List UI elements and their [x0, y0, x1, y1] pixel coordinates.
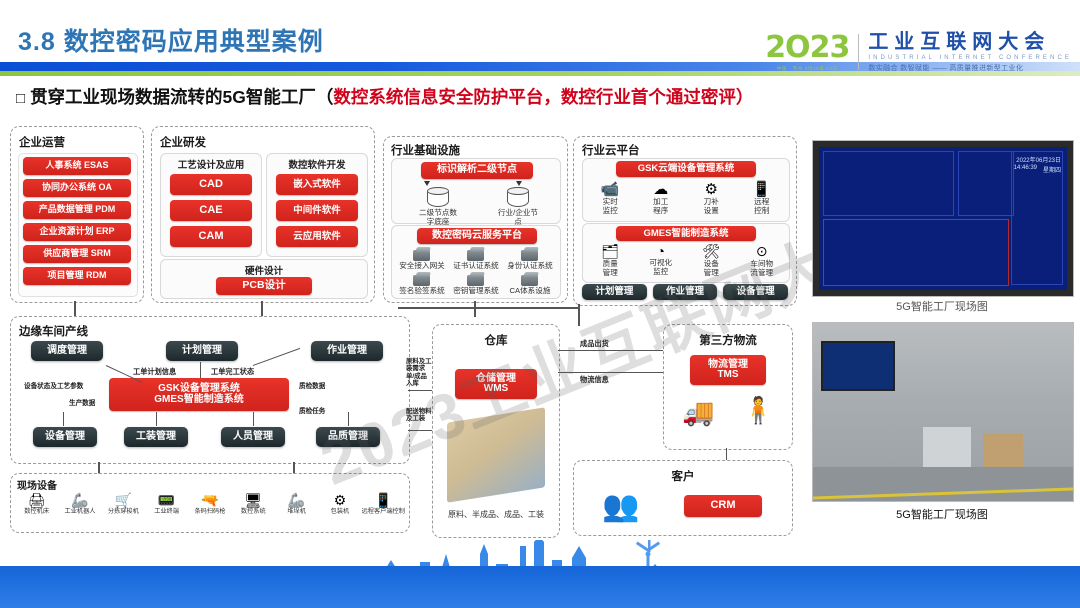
- dashboard-date: 2022年06月23日: [1016, 155, 1061, 164]
- sorting-shuttle-icon: 🛒: [102, 492, 145, 509]
- edge-center-line-0: GSK设备管理系统: [158, 384, 240, 395]
- warehouse-footer: 原料、半成品、成品、工装: [433, 511, 559, 520]
- logo-name-cn: 工业互联网大会: [868, 32, 1072, 53]
- subtitle-main: 贯穿工业现场数据流转的5G智能工厂: [30, 87, 316, 107]
- connector-vertical: [74, 301, 76, 317]
- server-icon: [466, 272, 486, 287]
- cloud-gmes-item-2: 设备管理: [686, 260, 737, 277]
- infra-crypto-item-2: 身份认证系统: [503, 262, 557, 271]
- cloud-gsk-item-0: 实时监控: [585, 198, 636, 215]
- rd-group-process: 工艺设计及应用 CAD CAE CAM: [160, 153, 262, 257]
- infra-node-banner[interactable]: 标识解析二级节点: [421, 162, 533, 179]
- field-device-label-2: 分拣穿梭机: [102, 509, 145, 516]
- rd-process-item-2[interactable]: CAM: [170, 226, 252, 247]
- rd-hardware-item-0[interactable]: PCB设计: [216, 277, 312, 295]
- connector-horizontal: [558, 372, 663, 373]
- subtitle-highlight: 数控系统信息安全防护平台，数控行业首个通过密评: [333, 87, 736, 107]
- infra-node-group: 标识解析二级节点 二级节点数字底座 行业/企业节点: [391, 158, 561, 224]
- connector-vertical: [578, 304, 580, 326]
- stacker-crane-icon: 🦾: [275, 492, 318, 509]
- infra-crypto-item-1: 证书认证系统: [449, 262, 503, 271]
- edge-top-box-2[interactable]: 作业管理: [311, 341, 383, 361]
- remote-client-icon: 📱: [362, 492, 405, 509]
- edge-top-box-1[interactable]: 计划管理: [166, 341, 238, 361]
- cnc-system-icon: 🖥: [232, 492, 275, 509]
- connector-vertical: [253, 412, 254, 426]
- rd-software-item-2[interactable]: 云应用软件: [276, 226, 358, 247]
- logo-divider: [858, 34, 859, 70]
- connector-vertical: [726, 448, 727, 460]
- subtitle-paren-open: （: [316, 87, 334, 107]
- server-icon: [412, 247, 432, 262]
- server-icon: [466, 247, 486, 262]
- warehouse-wms-button[interactable]: 仓储管理 WMS: [455, 369, 537, 399]
- infra-crypto-item-4: 密钥管理系统: [449, 287, 503, 296]
- connector-vertical: [348, 412, 349, 426]
- remote-icon: 📱: [737, 180, 788, 198]
- field-device-label-1: 工业机器人: [58, 509, 101, 516]
- rd-process-item-0[interactable]: CAD: [170, 174, 252, 195]
- flow-label-0: 成品出货: [580, 339, 609, 349]
- ops-item-3[interactable]: 企业资源计划 ERP: [23, 223, 131, 241]
- connector-vertical: [261, 301, 263, 317]
- logo-year: 2O23: [765, 33, 849, 63]
- dashboard-weekday: 星期四: [1043, 165, 1061, 174]
- page-title: 3.8 数控密码应用典型案例: [18, 22, 324, 58]
- infra-crypto-item-3: 签名验签系统: [395, 287, 449, 296]
- edge-center-system[interactable]: GSK设备管理系统 GMES智能制造系统: [109, 378, 289, 411]
- gauge-icon: ◔: [636, 243, 687, 259]
- edge-label-5: 质检任务: [299, 405, 325, 415]
- infra-crypto-banner[interactable]: 数控密码云服务平台: [417, 228, 537, 244]
- edge-top-box-0[interactable]: 调度管理: [31, 341, 103, 361]
- cloud-gsk-item-1: 加工程序: [636, 198, 687, 215]
- server-icon: [520, 247, 540, 262]
- edge-label-2: 设备状态及工艺参数: [24, 380, 83, 390]
- robot-arm-icon: 🦾: [58, 492, 101, 509]
- flow-label-3: 配送物料及工装: [406, 408, 432, 423]
- logo-slogan: 数实融合 数智赋能 —— 高质量推进新型工业化: [868, 63, 1072, 73]
- connector-horizontal: [398, 307, 578, 309]
- cloud-gmes-banner[interactable]: GMES智能制造系统: [616, 226, 756, 241]
- panel-enterprise-rd-title: 企业研发: [160, 134, 206, 150]
- cloud-gmes-item-3: 车间物流管理: [737, 260, 788, 277]
- camera-icon: 📹: [585, 180, 636, 198]
- cloud-gmes-group: GMES智能制造系统 🗂质量管理 ◔可视化监控 🛠设备管理 ⊙车间物流管理: [582, 223, 790, 283]
- subtitle-paren-close: ）: [736, 87, 754, 107]
- panel-industry-cloud: 行业云平台 GSK云端设备管理系统 📹实时监控 ☁加工程序 ⚙刀补设置 📱远程控…: [573, 136, 797, 306]
- delivery-person-icon: 🧍: [742, 395, 774, 426]
- ops-item-0[interactable]: 人事系统 ESAS: [23, 157, 131, 175]
- connector-vertical: [474, 301, 476, 317]
- logistics-tms-line-1: TMS: [717, 370, 738, 381]
- subtitle-bullet: □: [16, 90, 25, 107]
- connector-vertical: [156, 412, 157, 426]
- infra-crypto-item-0: 安全接入网关: [395, 262, 449, 271]
- field-device-label-4: 条码扫码枪: [188, 509, 231, 516]
- cloud-footer-btn-0[interactable]: 计划管理: [582, 284, 647, 300]
- industrial-terminal-icon: 📟: [145, 492, 188, 509]
- field-device-label-0: 数控机床: [15, 509, 58, 516]
- photo-caption-factory: 5G智能工厂现场图: [812, 506, 1072, 522]
- panel-enterprise-rd: 企业研发 工艺设计及应用 CAD CAE CAM 数控软件开发 嵌入式软件 中间…: [151, 126, 375, 303]
- photo-caption-dashboard: 5G智能工厂现场图: [812, 298, 1072, 314]
- panel-customer: 客户 👥 CRM: [573, 460, 793, 536]
- cloud-gsk-banner[interactable]: GSK云端设备管理系统: [616, 161, 756, 177]
- cloud-gmes-item-1: 可视化监控: [636, 259, 687, 276]
- rd-software-item-1[interactable]: 中间件软件: [276, 200, 358, 221]
- edge-label-0: 工单计划信息: [133, 367, 176, 377]
- infra-node-label-0: 二级节点数字底座: [416, 209, 460, 226]
- subtitle: □贯穿工业现场数据流转的5G智能工厂（数控系统信息安全防护平台，数控行业首个通过…: [16, 84, 753, 109]
- edge-bottom-box-0[interactable]: 设备管理: [33, 427, 97, 447]
- panel-third-party-logistics: 第三方物流 物流管理 TMS 🚚 🧍: [663, 324, 793, 450]
- footer-sea-band: [0, 566, 1080, 608]
- field-device-label-8: 远程客户端控制: [362, 509, 405, 516]
- edge-center-line-1: GMES智能制造系统: [154, 395, 243, 406]
- logo-name-en: INDUSTRIAL INTERNET CONFERENCE: [868, 55, 1072, 61]
- cloud-gsk-item-3: 远程控制: [737, 198, 788, 215]
- tool-offset-icon: ⚙: [686, 180, 737, 198]
- infra-node-label-1: 行业/企业节点: [496, 209, 540, 226]
- quality-icon: 🗂: [585, 243, 636, 260]
- logo-year-sub: 中国 · 苏州 8月18日-19日: [765, 66, 849, 72]
- architecture-diagram: 企业运营 人事系统 ESAS 协同办公系统 OA 产品数据管理 PDM 企业资源…: [8, 120, 803, 540]
- cloud-footer-btn-1[interactable]: 作业管理: [653, 284, 718, 300]
- field-device-label-3: 工业终端: [145, 509, 188, 516]
- rd-group-hardware: 硬件设计 PCB设计: [160, 259, 368, 299]
- panel-enterprise-ops-title: 企业运营: [19, 134, 65, 150]
- footer-skyline: [0, 540, 1080, 608]
- rd-group-process-title: 工艺设计及应用: [161, 157, 261, 171]
- panel-edge-line: 边缘车间产线 调度管理 计划管理 作业管理 GSK设备管理系统 GMES智能制造…: [10, 316, 410, 464]
- panel-warehouse-title: 仓库: [433, 332, 559, 348]
- field-device-label-6: 堆垛机: [275, 509, 318, 516]
- panel-edge-line-title: 边缘车间产线: [19, 323, 88, 339]
- connector-vertical: [63, 412, 64, 426]
- connector-horizontal: [408, 390, 432, 391]
- panel-field-devices: 现场设备 🖨数控机床 🦾工业机器人 🛒分拣穿梭机 📟工业终端 🔫条码扫码枪 🖥数…: [10, 473, 410, 533]
- photo-factory-floor: [812, 322, 1074, 502]
- database-icon: [427, 187, 449, 207]
- cloud-icon: ☁: [636, 180, 687, 198]
- ops-item-4[interactable]: 供应商管理 SRM: [23, 245, 131, 263]
- edge-bottom-box-2[interactable]: 人员管理: [221, 427, 285, 447]
- ops-item-2[interactable]: 产品数据管理 PDM: [23, 201, 131, 219]
- flow-label-1: 物流信息: [580, 375, 609, 385]
- server-icon: [520, 272, 540, 287]
- panel-enterprise-ops: 企业运营 人事系统 ESAS 协同办公系统 OA 产品数据管理 PDM 企业资源…: [10, 126, 144, 303]
- warehouse-illustration: [447, 407, 545, 503]
- panel-logistics-title: 第三方物流: [664, 332, 792, 348]
- barcode-scanner-icon: 🔫: [188, 492, 231, 509]
- logistics-tms-button[interactable]: 物流管理 TMS: [690, 355, 766, 385]
- cloud-gmes-item-0: 质量管理: [585, 260, 636, 277]
- logistics-icon: ⊙: [737, 243, 788, 260]
- dashboard-time: 14:46:39: [1014, 165, 1037, 171]
- rd-group-software: 数控软件开发 嵌入式软件 中间件软件 云应用软件: [266, 153, 368, 257]
- customer-illustration: 👥: [602, 489, 639, 524]
- cloud-gsk-group: GSK云端设备管理系统 📹实时监控 ☁加工程序 ⚙刀补设置 📱远程控制: [582, 158, 790, 222]
- conference-logo: 2O23 中国 · 苏州 8月18日-19日 工业互联网大会 INDUSTRIA…: [765, 28, 1072, 76]
- rd-software-item-0[interactable]: 嵌入式软件: [276, 174, 358, 195]
- edge-bottom-box-3[interactable]: 品质管理: [316, 427, 380, 447]
- field-device-label-5: 数控系统: [232, 509, 275, 516]
- panel-customer-title: 客户: [574, 468, 792, 484]
- panel-industry-infra: 行业基础设施 标识解析二级节点 二级节点数字底座 行业/企业节点 数控密码云服务…: [383, 136, 568, 303]
- connector-vertical: [200, 362, 201, 378]
- cloud-footer-btn-2[interactable]: 设备管理: [723, 284, 788, 300]
- panel-industry-infra-title: 行业基础设施: [391, 142, 460, 158]
- panel-warehouse: 仓库 仓储管理 WMS 原料、半成品、成品、工装: [432, 324, 560, 538]
- rd-group-hardware-title: 硬件设计: [161, 263, 367, 277]
- flow-label-2: 原料及工装需求单/成品入库: [406, 358, 432, 387]
- connector-diagonal: [253, 348, 300, 366]
- cnc-machine-icon: 🖨: [15, 492, 58, 509]
- rd-group-software-title: 数控软件开发: [267, 157, 367, 171]
- warehouse-wms-line-1: WMS: [484, 384, 508, 395]
- database-icon: [507, 187, 529, 207]
- infra-crypto-item-5: CA体系设施: [503, 287, 557, 296]
- edge-label-3: 生产数据: [69, 397, 95, 407]
- panel-industry-cloud-title: 行业云平台: [582, 142, 640, 158]
- field-device-label-7: 包装机: [318, 509, 361, 516]
- ops-item-1[interactable]: 协同办公系统 OA: [23, 179, 131, 197]
- customer-crm-button[interactable]: CRM: [684, 495, 762, 517]
- edge-bottom-box-1[interactable]: 工装管理: [124, 427, 188, 447]
- photo-dashboard: 2022年06月23日 14:46:39 星期四: [812, 140, 1074, 297]
- infra-crypto-group: 数控密码云服务平台 安全接入网关 证书认证系统 身份认证系统 签名验签系统 密钥…: [391, 225, 561, 299]
- rd-process-item-1[interactable]: CAE: [170, 200, 252, 221]
- wrench-icon: 🛠: [686, 243, 737, 260]
- panel-field-devices-title: 现场设备: [17, 477, 57, 492]
- connector-horizontal: [558, 350, 663, 351]
- ops-item-5[interactable]: 项目管理 RDM: [23, 267, 131, 285]
- edge-label-1: 工单完工状态: [211, 367, 254, 377]
- delivery-truck-icon: 🚚: [682, 397, 714, 428]
- connector-horizontal: [408, 430, 432, 431]
- packing-machine-icon: ⚙: [318, 492, 361, 509]
- server-icon: [412, 272, 432, 287]
- edge-label-4: 质检数据: [299, 380, 325, 390]
- cloud-gsk-item-2: 刀补设置: [686, 198, 737, 215]
